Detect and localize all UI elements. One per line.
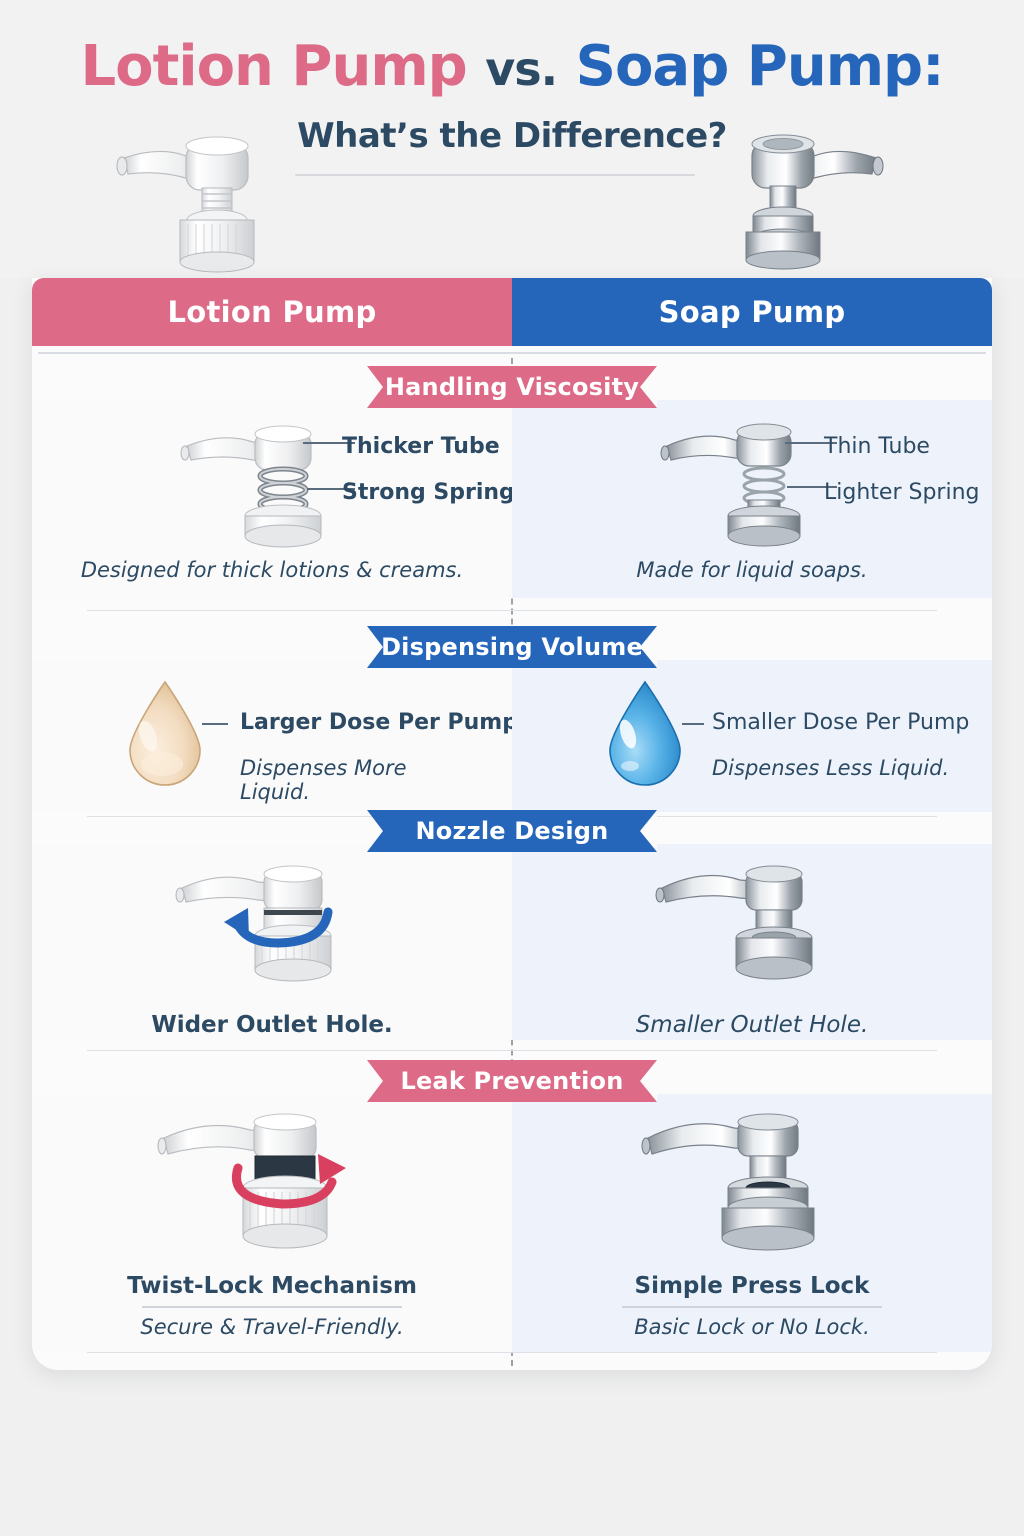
panel-soap-dispensing-volume: Smaller Dose Per Pump Dispenses Less Liq… bbox=[512, 660, 992, 812]
title-lotion-pump: Lotion Pump bbox=[80, 34, 466, 99]
caption-lotion-dispensing: Dispenses More Liquid. bbox=[240, 756, 472, 804]
panel-soap-handling-viscosity: Thin Tube Lighter Spring Made for liquid… bbox=[512, 400, 992, 598]
panel-lotion-nozzle-design: Wider Outlet Hole. bbox=[32, 844, 512, 1040]
silver-pump-press-lock-icon bbox=[622, 1112, 882, 1267]
leadline-smaller-dose bbox=[682, 723, 704, 725]
leak-prevention-left-rule bbox=[142, 1306, 402, 1308]
panel-soap-nozzle-design: Smaller Outlet Hole. bbox=[512, 844, 992, 1040]
caption-soap-dispensing: Dispenses Less Liquid. bbox=[712, 756, 949, 780]
caption-soap-leak: Basic Lock or No Lock. bbox=[634, 1315, 870, 1339]
column-header-row: Lotion Pump Soap Pump bbox=[32, 278, 992, 346]
title-twist-lock-mechanism: Twist-Lock Mechanism bbox=[127, 1273, 417, 1299]
blue-droplet-icon bbox=[600, 678, 690, 788]
callout-thin-tube: Thin Tube bbox=[824, 434, 930, 459]
caption-lotion-nozzle: Wider Outlet Hole. bbox=[151, 1012, 392, 1038]
page-title: Lotion Pump vs. Soap Pump: bbox=[0, 34, 1024, 99]
callout-thicker-tube: Thicker Tube bbox=[342, 434, 500, 459]
callout-lighter-spring: Lighter Spring bbox=[824, 480, 979, 505]
caption-lotion-leak: Secure & Travel-Friendly. bbox=[140, 1315, 403, 1339]
section-dispensing-volume: Dispensing Volume bbox=[32, 626, 992, 826]
callout-strong-spring: Strong Spring bbox=[342, 480, 515, 505]
section-banner-dispensing-volume: Dispensing Volume bbox=[367, 626, 657, 668]
panel-lotion-leak-prevention: Twist-Lock Mechanism Secure & Travel-Fri… bbox=[32, 1094, 512, 1352]
cream-droplet-icon bbox=[120, 678, 210, 788]
hero-soap-pump-icon bbox=[712, 116, 892, 276]
section-nozzle-design: Nozzle Design bbox=[32, 810, 992, 1062]
section-handling-viscosity: Handling Viscosity bbox=[32, 366, 992, 626]
leadline-larger-dose bbox=[202, 723, 228, 725]
caption-lotion-viscosity: Designed for thick lotions & creams. bbox=[81, 558, 463, 582]
column-header-underline bbox=[38, 352, 986, 354]
pump-twist-lock-icon bbox=[142, 1112, 402, 1267]
subtitle-divider bbox=[295, 174, 695, 176]
panel-soap-leak-prevention: Simple Press Lock Basic Lock or No Lock. bbox=[512, 1094, 992, 1352]
title-simple-press-lock: Simple Press Lock bbox=[635, 1273, 870, 1299]
panel-lotion-handling-viscosity: Thicker Tube Strong Spring Designed for … bbox=[32, 400, 512, 598]
callout-larger-dose-per-pump: Larger Dose Per Pump bbox=[240, 710, 518, 735]
section-leak-prevention: Leak Prevention bbox=[32, 1060, 992, 1360]
silver-pump-nozzle-icon bbox=[632, 860, 872, 1000]
leak-prevention-right-rule bbox=[622, 1306, 882, 1308]
section-divider-4 bbox=[87, 1352, 937, 1353]
section-divider-3 bbox=[87, 1050, 937, 1051]
hero-lotion-pump-icon bbox=[108, 116, 288, 276]
section-banner-handling-viscosity: Handling Viscosity bbox=[367, 366, 657, 408]
section-banner-nozzle-design: Nozzle Design bbox=[367, 810, 657, 852]
column-header-lotion-pump: Lotion Pump bbox=[32, 278, 512, 346]
section-banner-leak-prevention: Leak Prevention bbox=[367, 1060, 657, 1102]
section-divider-1 bbox=[87, 610, 937, 611]
pump-rotate-arrow-icon bbox=[152, 860, 392, 1000]
column-header-soap-pump: Soap Pump bbox=[512, 278, 992, 346]
caption-soap-nozzle: Smaller Outlet Hole. bbox=[636, 1012, 869, 1038]
caption-soap-viscosity: Made for liquid soaps. bbox=[636, 558, 867, 582]
title-vs: vs. bbox=[485, 42, 557, 96]
title-soap-pump: Soap Pump: bbox=[576, 34, 944, 99]
panel-lotion-dispensing-volume: Larger Dose Per Pump Dispenses More Liqu… bbox=[32, 660, 512, 812]
comparison-card: Lotion Pump Soap Pump Handling Viscosity bbox=[32, 278, 992, 1370]
infographic-header: Lotion Pump vs. Soap Pump: What’s the Di… bbox=[0, 0, 1024, 278]
callout-smaller-dose-per-pump: Smaller Dose Per Pump bbox=[712, 710, 969, 735]
